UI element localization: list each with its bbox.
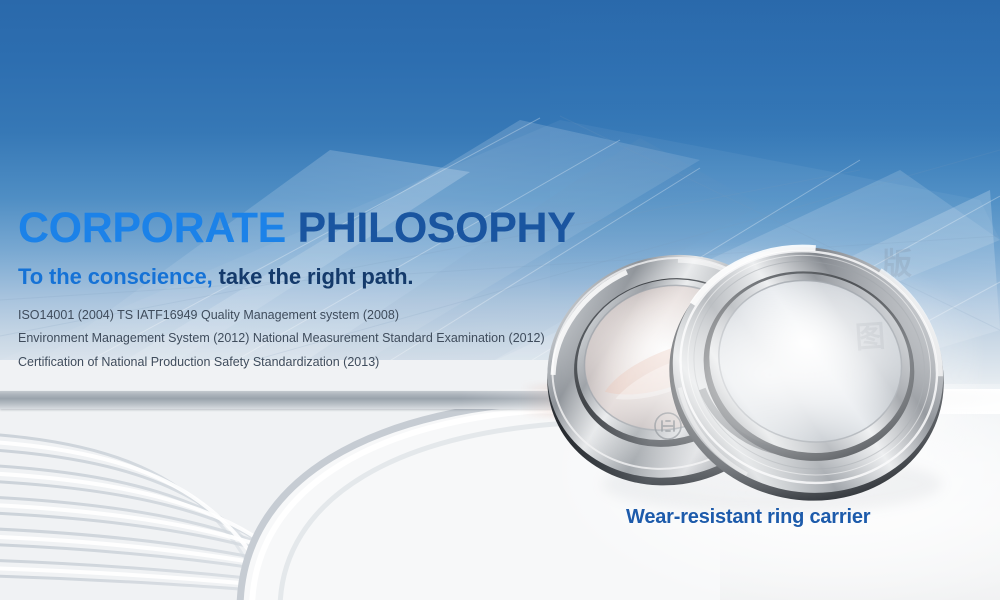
- certification-list: ISO14001 (2004) TS IATF16949 Quality Man…: [18, 309, 638, 369]
- page-title: CORPORATE PHILOSOPHY: [18, 205, 638, 251]
- certification-line: ISO14001 (2004) TS IATF16949 Quality Man…: [18, 309, 638, 322]
- subtitle-part-2: take the right path.: [219, 264, 414, 289]
- subtitle: To the conscience, take the right path.: [18, 264, 638, 290]
- certification-line: Environment Management System (2012) Nat…: [18, 332, 638, 345]
- copy-block: CORPORATE PHILOSOPHY To the conscience, …: [18, 205, 638, 379]
- product-caption: Wear-resistant ring carrier: [626, 506, 870, 529]
- title-word-philosophy: PHILOSOPHY: [298, 204, 576, 252]
- title-word-corporate: CORPORATE: [18, 204, 286, 252]
- certification-line: Certification of National Production Saf…: [18, 356, 638, 369]
- corporate-philosophy-banner: 版 权 图: [0, 0, 1000, 600]
- subtitle-part-1: To the conscience,: [18, 264, 213, 289]
